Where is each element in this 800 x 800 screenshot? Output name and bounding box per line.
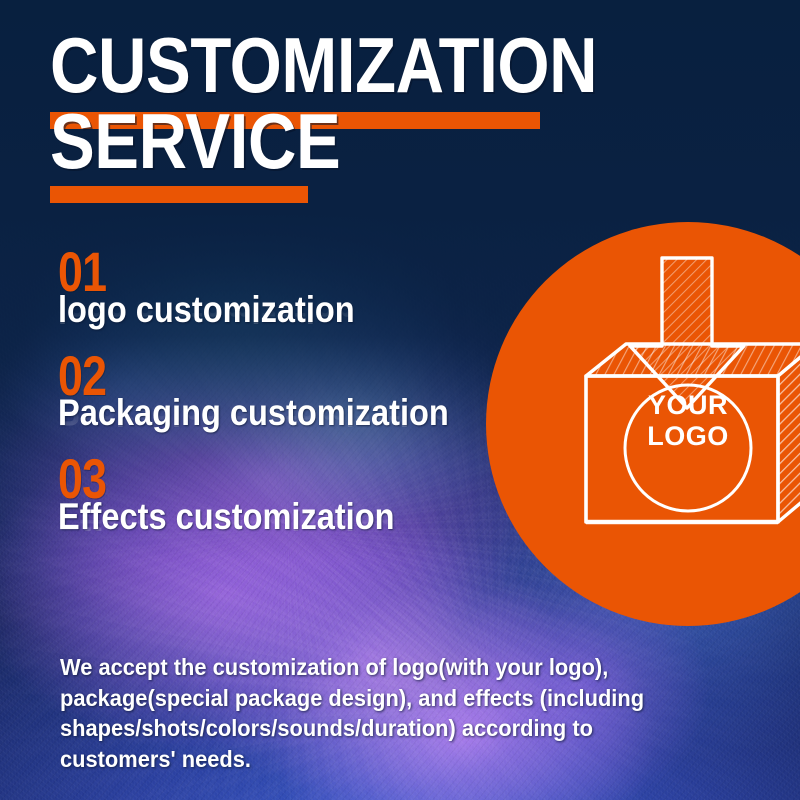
headline-line-1: CUSTOMIZATION [50, 34, 532, 96]
customization-service-poster: CUSTOMIZATION SERVICE 01 logo customizat… [0, 0, 800, 800]
headline-underline-2 [50, 186, 308, 203]
feature-item-01: 01 logo customization [58, 246, 528, 328]
headline-row-1: CUSTOMIZATION [50, 34, 610, 96]
feature-label-03: Effects customization [58, 498, 472, 535]
description-paragraph: We accept the customization of logo(with… [60, 652, 668, 774]
badge-artwork [486, 222, 800, 626]
feature-item-02: 02 Packaging customization [58, 350, 528, 432]
package-box-icon [586, 344, 800, 522]
customization-badge: YOUR LOGO [486, 222, 800, 626]
page-title: CUSTOMIZATION SERVICE [50, 34, 610, 173]
feature-list: 01 logo customization 02 Packaging custo… [58, 246, 528, 557]
feature-label-02: Packaging customization [58, 394, 472, 431]
feature-label-01: logo customization [58, 291, 472, 328]
headline-line-2: SERVICE [50, 110, 532, 172]
feature-item-03: 03 Effects customization [58, 453, 528, 535]
headline-row-2: SERVICE [50, 110, 610, 172]
